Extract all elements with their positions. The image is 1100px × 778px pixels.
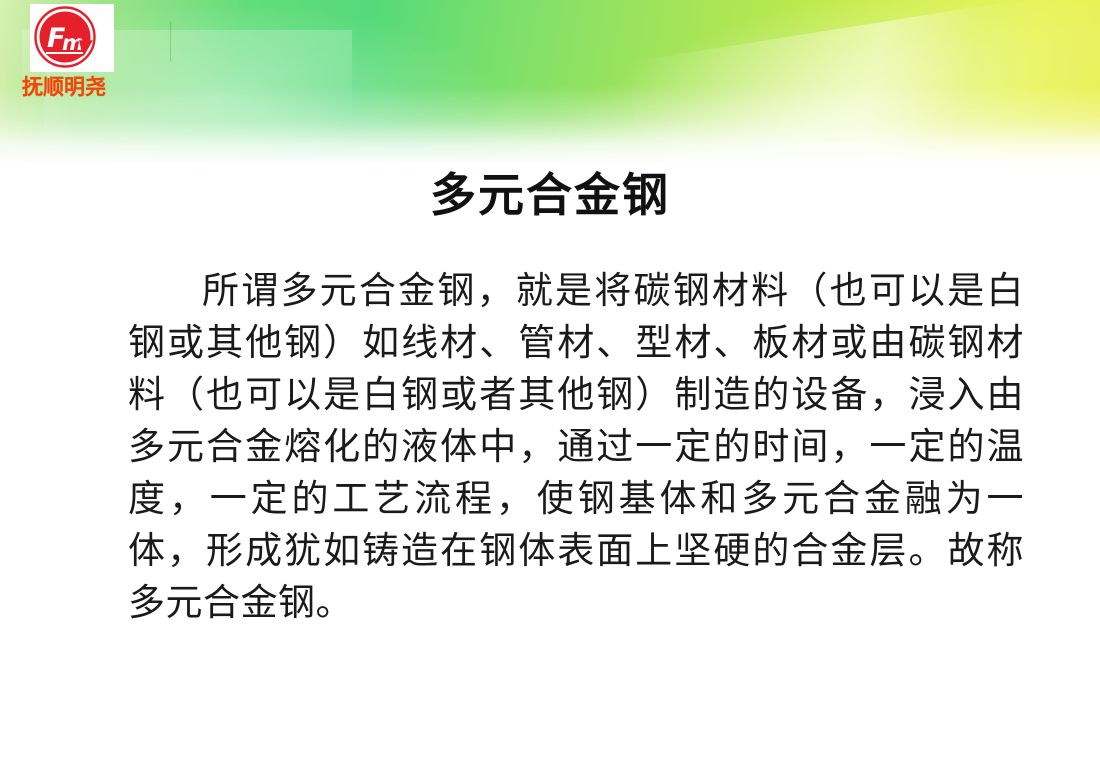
slide-body-text: 所谓多元合金钢，就是将碳钢材料（也可以是白钢或其他钢）如线材、管材、型材、板材或… <box>128 265 1024 629</box>
fmy-circle-icon: F m y <box>34 6 98 70</box>
slide-title: 多元合金钢 <box>0 170 1100 221</box>
presentation-slide: F m y 抚顺明尧 多元合金钢 所谓多元合金钢，就是将碳钢材料（也可以是白钢或… <box>0 0 1100 778</box>
slide-content: 多元合金钢 所谓多元合金钢，就是将碳钢材料（也可以是白钢或其他钢）如线材、管材、… <box>0 0 1100 778</box>
company-logo: F m y 抚顺明尧 <box>22 4 142 99</box>
logo-plate: F m y <box>30 4 114 72</box>
logo-wordmark: 抚顺明尧 <box>22 76 142 99</box>
